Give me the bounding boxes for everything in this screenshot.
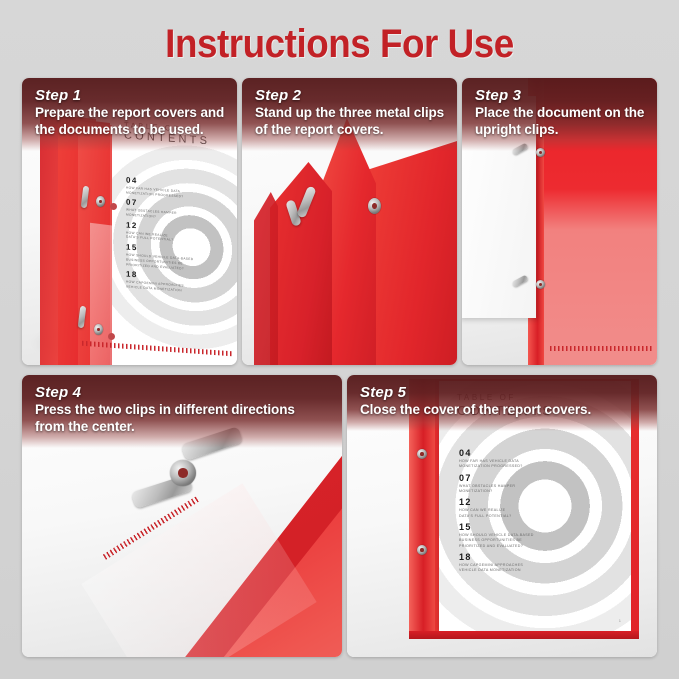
- page-title: Instructions For Use: [27, 22, 652, 67]
- step-5-text-line1: Close the cover of the report covers.: [360, 402, 645, 419]
- toc-entry: 07 WHAT OBSTACLES HAMPER MONETIZATION?: [126, 199, 230, 225]
- instruction-sheet: Instructions For Use: [0, 0, 679, 679]
- cover-bottom-edge: [409, 631, 639, 639]
- eyelet: [96, 196, 105, 207]
- step-3-text-line2: upright clips.: [475, 122, 645, 139]
- step-2-text-line1: Stand up the three metal clips: [255, 105, 445, 122]
- eyelet: [417, 449, 427, 459]
- step-3-label: Step 3: [475, 87, 645, 104]
- eyelet: [170, 460, 196, 486]
- step-2-text-line2: of the report covers.: [255, 122, 445, 139]
- toc-entry: 18 HOW CAPGEMINI APPROACHES VEHICLE DATA…: [126, 271, 230, 297]
- step-1-label: Step 1: [35, 87, 225, 104]
- step-5-label: Step 5: [360, 384, 645, 401]
- step-1-header: Step 1 Prepare the report covers and the…: [22, 78, 237, 151]
- step-4-text-line2: from the center.: [35, 419, 330, 436]
- toc-entry: 15 HOW SHOULD VEHICLE DATA-BASED BUSINES…: [459, 523, 579, 549]
- step-3-text-line1: Place the document on the: [475, 105, 645, 122]
- eyelet: [94, 324, 103, 335]
- toc-entry: 15 HOW SHOULD VEHICLE DATA-BASED BUSINES…: [126, 244, 230, 274]
- step-2-label: Step 2: [255, 87, 445, 104]
- step-panel-2: Step 2 Stand up the three metal clips of…: [242, 78, 457, 365]
- step-4-header: Step 4 Press the two clips in different …: [22, 375, 342, 448]
- document-page-number: 1: [619, 618, 621, 623]
- toc-entry: 07 WHAT OBSTACLES HAMPER MONETIZATION?: [459, 474, 579, 495]
- step-panel-1: TABLE OF CONTENTS 04 HOW FAR HAS VEHICLE…: [22, 78, 237, 365]
- step-panel-4: Step 4 Press the two clips in different …: [22, 375, 342, 657]
- eyelet: [368, 198, 381, 214]
- step-4-text-line1: Press the two clips in different directi…: [35, 402, 330, 419]
- step-4-label: Step 4: [35, 384, 330, 401]
- step-1-text-line2: the documents to be used.: [35, 122, 225, 139]
- step-5-header: Step 5 Close the cover of the report cov…: [347, 375, 657, 431]
- step-3-header: Step 3 Place the document on the upright…: [462, 78, 657, 151]
- step-panel-5: TABLE OF CONTENTS 04 HOW FAR HAS VEHICLE…: [347, 375, 657, 657]
- eyelet: [536, 280, 545, 289]
- toc-entry: 18 HOW CAPGEMINI APPROACHES VEHICLE DATA…: [459, 553, 579, 574]
- eyelet: [417, 545, 427, 555]
- step-1-text-line1: Prepare the report covers and: [35, 105, 225, 122]
- report-cover: [254, 192, 278, 365]
- toc-entry: 12 HOW CAN WE REALIZE DATA'S FULL POTENT…: [126, 221, 230, 247]
- step-2-header: Step 2 Stand up the three metal clips of…: [242, 78, 457, 151]
- toc-entry: 12 HOW CAN WE REALIZE DATA'S FULL POTENT…: [459, 498, 579, 519]
- step-panel-3: Step 3 Place the document on the upright…: [462, 78, 657, 365]
- toc-entry: 04 HOW FAR HAS VEHICLE DATA MONETIZATION…: [126, 177, 230, 203]
- toc-entry: 04 HOW FAR HAS VEHICLE DATA MONETIZATION…: [459, 449, 579, 470]
